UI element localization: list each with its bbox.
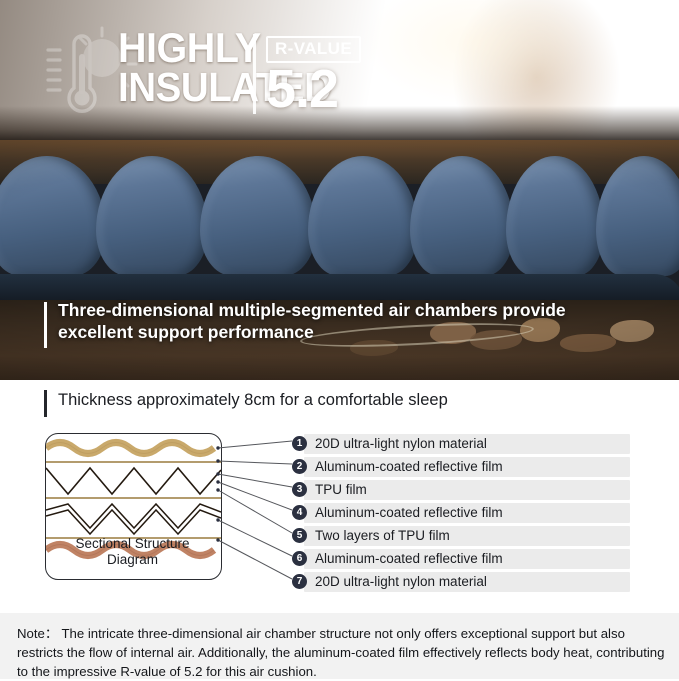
product-photo: Three-dimensional multiple-segmented air… <box>0 140 679 380</box>
hero-banner: HIGHLY INSULATED R-VALUE 5.2 <box>0 0 679 140</box>
legend-number-badge: 2 <box>292 459 307 474</box>
note-text: Note： The intricate three-dimensional ai… <box>17 624 667 681</box>
legend-label: Aluminum-coated reflective film <box>315 505 503 520</box>
layer-legend: 1 20D ultra-light nylon material 2 Alumi… <box>292 432 632 593</box>
legend-label: Aluminum-coated reflective film <box>315 459 503 474</box>
diagram-caption: Sectional Structure Diagram <box>45 536 220 569</box>
list-item[interactable]: 2 Aluminum-coated reflective film <box>292 455 632 478</box>
legend-number-badge: 3 <box>292 482 307 497</box>
legend-label: 20D ultra-light nylon material <box>315 436 487 451</box>
legend-label: Two layers of TPU film <box>315 528 450 543</box>
structure-section: Sectional Structure Diagram <box>0 428 679 631</box>
subhead-text: Thickness approximately 8cm for a comfor… <box>58 391 448 410</box>
overlay-accent-bar <box>44 302 47 348</box>
hero-divider <box>253 34 256 114</box>
list-item[interactable]: 5 Two layers of TPU film <box>292 524 632 547</box>
list-item[interactable]: 1 20D ultra-light nylon material <box>292 432 632 455</box>
list-item[interactable]: 6 Aluminum-coated reflective film <box>292 547 632 570</box>
r-value-number: 5.2 <box>266 65 361 115</box>
legend-label: Aluminum-coated reflective film <box>315 551 503 566</box>
legend-number-badge: 6 <box>292 551 307 566</box>
r-value-block: R-VALUE 5.2 <box>266 36 361 115</box>
photo-overlay-heading: Three-dimensional multiple-segmented air… <box>44 300 644 344</box>
legend-label: TPU film <box>315 482 367 497</box>
legend-number-badge: 7 <box>292 574 307 589</box>
subhead-accent-bar <box>44 390 47 417</box>
list-item[interactable]: 4 Aluminum-coated reflective film <box>292 501 632 524</box>
list-item[interactable]: 7 20D ultra-light nylon material <box>292 570 632 593</box>
list-item[interactable]: 3 TPU film <box>292 478 632 501</box>
legend-number-badge: 5 <box>292 528 307 543</box>
legend-number-badge: 4 <box>292 505 307 520</box>
diagram-caption-line-2: Diagram <box>107 552 158 567</box>
photo-vignette <box>0 140 679 380</box>
overlay-heading-text: Three-dimensional multiple-segmented air… <box>58 300 644 344</box>
legend-label: 20D ultra-light nylon material <box>315 574 487 589</box>
legend-number-badge: 1 <box>292 436 307 451</box>
diagram-caption-line-1: Sectional Structure <box>75 536 189 551</box>
subhead-section: Thickness approximately 8cm for a comfor… <box>0 380 679 428</box>
note-section: Note： The intricate three-dimensional ai… <box>0 613 679 679</box>
infographic-page: HIGHLY INSULATED R-VALUE 5.2 <box>0 0 679 679</box>
